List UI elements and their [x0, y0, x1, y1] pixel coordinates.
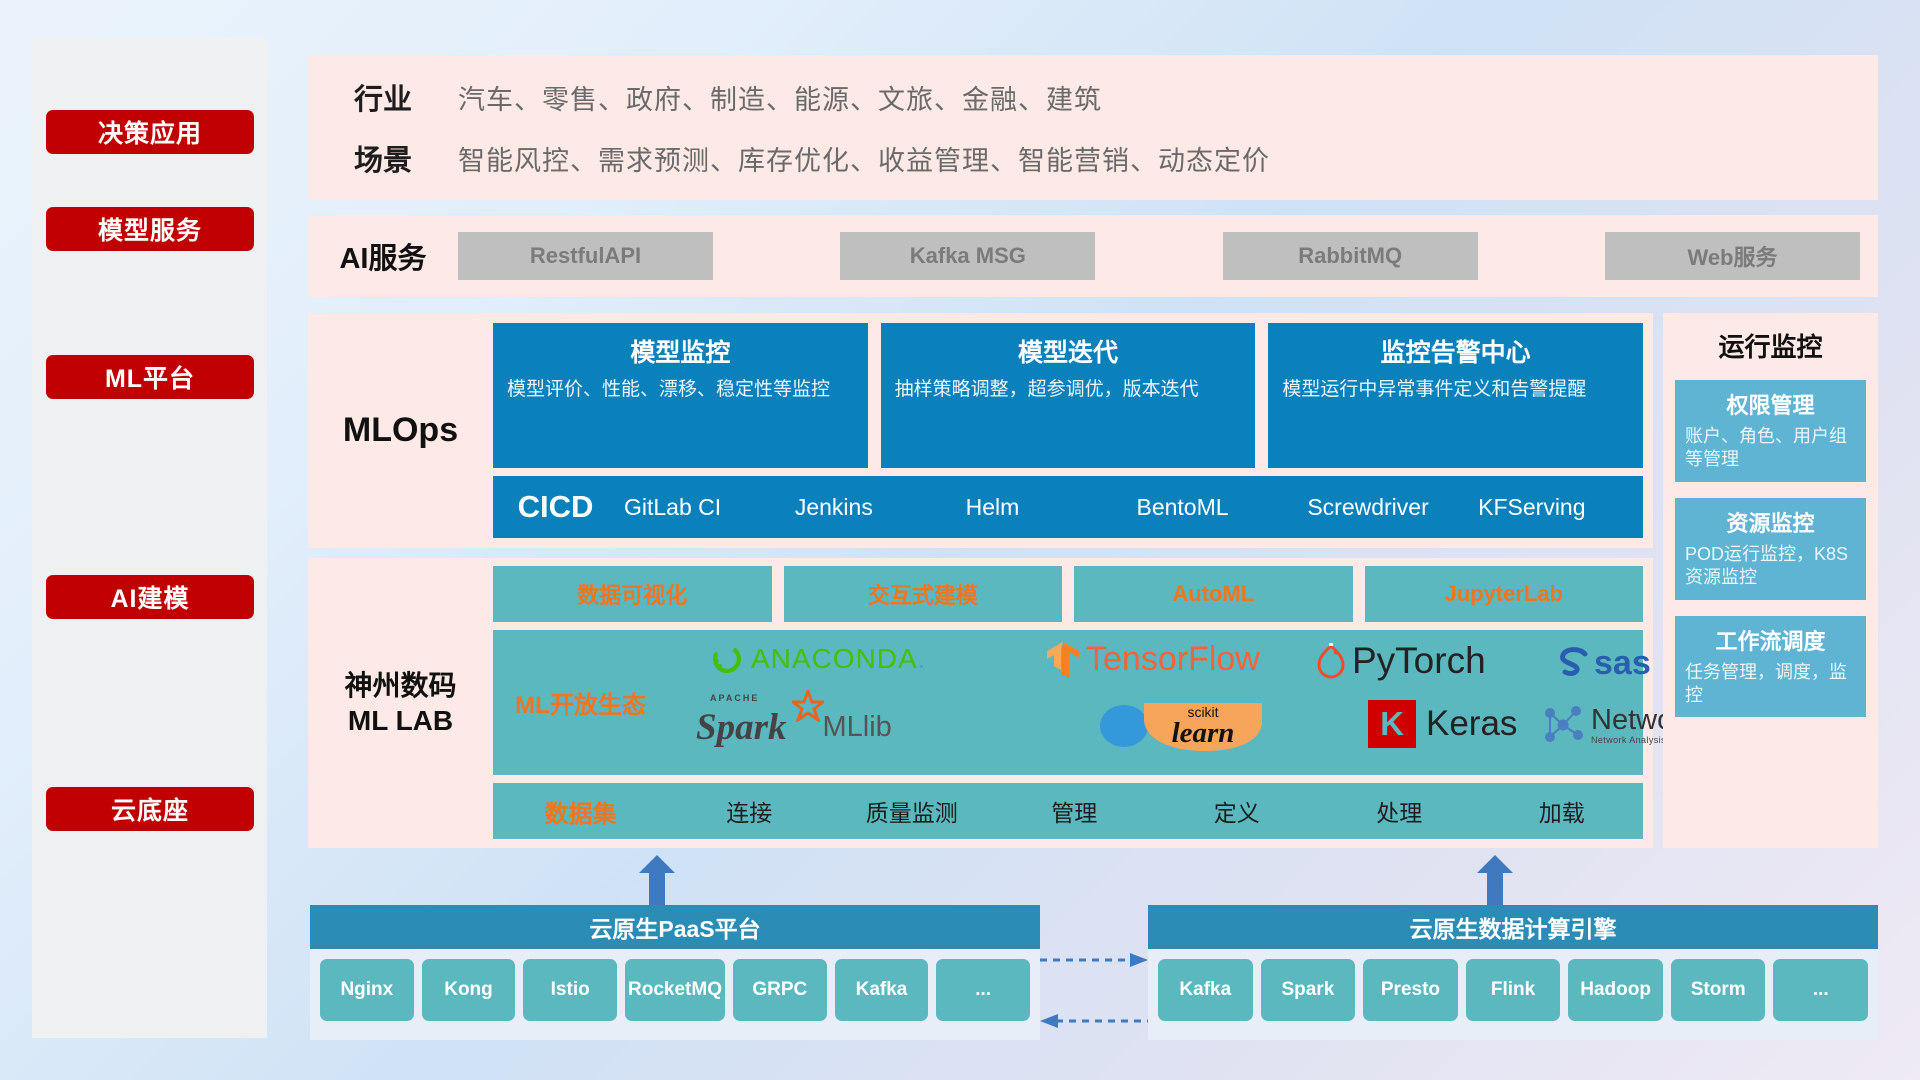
mllib-wordmark: MLlib: [822, 711, 891, 744]
rail-chip-ml-platform[interactable]: ML平台: [46, 355, 254, 399]
ecosystem-logo-grid: ANACONDA . APACHE Spark MLlib: [668, 630, 1643, 775]
cloud-chip-istio[interactable]: Istio: [523, 959, 617, 1021]
runtime-monitoring-title: 运行监控: [1663, 313, 1878, 364]
rail-chip-model-service[interactable]: 模型服务: [46, 207, 254, 251]
dataset-action-list: 连接 质量监测 管理 定义 处理 加载: [668, 794, 1643, 828]
dataset-action-manage[interactable]: 管理: [993, 794, 1156, 828]
rail-chip-label: ML平台: [105, 359, 195, 395]
dataset-action-quality[interactable]: 质量监测: [831, 794, 994, 828]
dataset-action-connect[interactable]: 连接: [668, 794, 831, 828]
scikit-wordmark-bottom: learn: [1142, 720, 1264, 748]
cicd-tool-screwdriver[interactable]: Screwdriver: [1301, 495, 1472, 519]
dashed-arrow-right-icon: [1040, 952, 1148, 968]
up-arrow-data-engine-icon: [1475, 855, 1515, 905]
keras-mark-icon: K: [1368, 700, 1416, 748]
tab-data-visualization[interactable]: 数据可视化: [493, 566, 772, 622]
cloud-chip-kong[interactable]: Kong: [422, 959, 516, 1021]
card-title: 模型监控: [507, 333, 854, 369]
rail-chip-label: 云底座: [111, 791, 189, 827]
rail-chip-label: 决策应用: [98, 114, 202, 150]
cloud-chip-rocketmq[interactable]: RocketMQ: [625, 959, 725, 1021]
scenario-label: 场景: [308, 137, 458, 179]
anaconda-dot: .: [918, 643, 926, 675]
keras-wordmark: Keras: [1426, 704, 1517, 744]
ai-service-chip-rabbitmq[interactable]: RabbitMQ: [1223, 232, 1478, 280]
ai-service-chip-web[interactable]: Web服务: [1605, 232, 1860, 280]
cloud-chip-nginx[interactable]: Nginx: [320, 959, 414, 1021]
rail-chip-label: 模型服务: [98, 211, 202, 247]
anaconda-mark-icon: [710, 642, 744, 676]
card-desc: 模型运行中异常事件定义和告警提醒: [1282, 377, 1629, 403]
cloud-paas-group: 云原生PaaS平台 Nginx Kong Istio RocketMQ GRPC…: [310, 905, 1040, 1040]
dataset-label: 数据集: [493, 794, 668, 829]
rail-chip-ai-modeling[interactable]: AI建模: [46, 575, 254, 619]
cicd-label: CICD: [493, 489, 618, 525]
ml-lab-label-line2: ML LAB: [348, 703, 453, 738]
tensorflow-wordmark: TensorFlow: [1086, 640, 1260, 679]
monitor-card-permission[interactable]: 权限管理 账户、角色、用户组等管理: [1675, 380, 1866, 482]
apache-wordmark: APACHE: [710, 693, 759, 703]
ml-lab-label: 神州数码 ML LAB: [308, 558, 493, 848]
cicd-strip: CICD GitLab CI Jenkins Helm BentoML Scre…: [493, 476, 1643, 538]
sas-wordmark: sas: [1594, 644, 1651, 683]
card-title: 监控告警中心: [1282, 333, 1629, 369]
dataset-action-load[interactable]: 加载: [1481, 794, 1644, 828]
monitor-card-resource[interactable]: 资源监控 POD运行监控，K8S资源监控: [1675, 498, 1866, 600]
monitor-card-workflow[interactable]: 工作流调度 任务管理，调度，监控: [1675, 616, 1866, 718]
industry-row: 行业 汽车、零售、政府、制造、能源、文旅、金融、建筑: [308, 55, 1878, 127]
cloud-paas-title: 云原生PaaS平台: [310, 905, 1040, 949]
rail-chip-decision[interactable]: 决策应用: [46, 110, 254, 154]
mlops-band: MLOps 模型监控 模型评价、性能、漂移、稳定性等监控 模型迭代 抽样策略调整…: [308, 313, 1653, 548]
spark-mllib-logo: APACHE Spark MLlib: [696, 706, 892, 749]
ai-service-label: AI服务: [308, 235, 458, 277]
mlops-card-model-monitoring[interactable]: 模型监控 模型评价、性能、漂移、稳定性等监控: [493, 323, 868, 468]
cloud-paas-chip-list: Nginx Kong Istio RocketMQ GRPC Kafka ...: [310, 949, 1040, 1021]
cloud-data-engine-group: 云原生数据计算引擎 Kafka Spark Presto Flink Hadoo…: [1148, 905, 1878, 1040]
pytorch-flame-icon: [1316, 643, 1346, 679]
card-desc: POD运行监控，K8S资源监控: [1685, 543, 1856, 590]
runtime-monitoring-panel: 运行监控 权限管理 账户、角色、用户组等管理 资源监控 POD运行监控，K8S资…: [1663, 313, 1878, 848]
keras-logo: K Keras: [1368, 700, 1517, 748]
pytorch-wordmark: PyTorch: [1352, 640, 1486, 682]
card-desc: 任务管理，调度，监控: [1685, 661, 1856, 708]
rail-chip-cloud-base[interactable]: 云底座: [46, 787, 254, 831]
mlops-card-alert-center[interactable]: 监控告警中心 模型运行中异常事件定义和告警提醒: [1268, 323, 1643, 468]
dashed-arrow-left-icon: [1040, 1013, 1148, 1029]
anaconda-wordmark: ANACONDA: [751, 643, 918, 675]
scikit-learn-logo: scikit learn: [1098, 702, 1264, 750]
dataset-action-define[interactable]: 定义: [1156, 794, 1319, 828]
cicd-tool-list: GitLab CI Jenkins Helm BentoML Screwdriv…: [618, 495, 1643, 519]
card-desc: 模型评价、性能、漂移、稳定性等监控: [507, 377, 854, 403]
ml-lab-label-line1: 神州数码: [344, 668, 456, 703]
cicd-tool-gitlab-ci[interactable]: GitLab CI: [618, 495, 789, 519]
tab-jupyterlab[interactable]: JupyterLab: [1365, 566, 1644, 622]
cloud-chip-flink[interactable]: Flink: [1466, 959, 1561, 1021]
mlops-card-list: 模型监控 模型评价、性能、漂移、稳定性等监控 模型迭代 抽样策略调整，超参调优，…: [493, 323, 1643, 468]
cicd-tool-jenkins[interactable]: Jenkins: [789, 495, 960, 519]
up-arrow-paas-icon: [637, 855, 677, 905]
tensorflow-logo: TensorFlow: [1046, 640, 1260, 679]
industry-label: 行业: [308, 76, 458, 118]
ml-open-ecosystem-label: ML开放生态: [493, 685, 668, 720]
card-title: 权限管理: [1685, 388, 1856, 420]
rail-chip-label: AI建模: [110, 579, 189, 615]
mlops-label: MLOps: [308, 313, 493, 548]
pytorch-logo: PyTorch: [1316, 640, 1486, 682]
ml-lab-tab-list: 数据可视化 交互式建模 AutoML JupyterLab: [493, 566, 1643, 622]
cloud-chip-presto[interactable]: Presto: [1363, 959, 1458, 1021]
cloud-data-engine-title: 云原生数据计算引擎: [1148, 905, 1878, 949]
card-title: 模型迭代: [895, 333, 1242, 369]
ml-open-ecosystem-panel: ML开放生态 ANACONDA . APACHE Spark: [493, 630, 1643, 775]
cloud-chip-grpc[interactable]: GRPC: [733, 959, 827, 1021]
anaconda-logo: ANACONDA .: [710, 642, 925, 676]
ai-service-chip-list: RestfulAPI Kafka MSG RabbitMQ Web服务: [458, 232, 1878, 280]
ai-service-chip-restfulapi[interactable]: RestfulAPI: [458, 232, 713, 280]
card-desc: 抽样策略调整，超参调优，版本迭代: [895, 377, 1242, 403]
cicd-tool-kfserving[interactable]: KFServing: [1472, 495, 1643, 519]
cicd-tool-bentoml[interactable]: BentoML: [1130, 495, 1301, 519]
ml-lab-band: 神州数码 ML LAB 数据可视化 交互式建模 AutoML JupyterLa…: [308, 558, 1653, 848]
industry-value: 汽车、零售、政府、制造、能源、文旅、金融、建筑: [458, 78, 1102, 117]
scenario-row: 场景 智能风控、需求预测、库存优化、收益管理、智能营销、动态定价: [308, 127, 1878, 189]
cloud-chip-storm[interactable]: Storm: [1671, 959, 1766, 1021]
cicd-tool-helm[interactable]: Helm: [960, 495, 1131, 519]
card-title: 资源监控: [1685, 506, 1856, 538]
spark-star-icon: [792, 690, 824, 722]
mlops-card-model-iteration[interactable]: 模型迭代 抽样策略调整，超参调优，版本迭代: [881, 323, 1256, 468]
cloud-chip-kafka[interactable]: Kafka: [1158, 959, 1253, 1021]
stack-layer-rail: 决策应用 模型服务 ML平台 AI建模 云底座: [32, 38, 267, 1038]
ai-service-chip-kafka-msg[interactable]: Kafka MSG: [840, 232, 1095, 280]
tab-interactive-modeling[interactable]: 交互式建模: [784, 566, 1063, 622]
cloud-chip-spark[interactable]: Spark: [1261, 959, 1356, 1021]
cloud-chip-more[interactable]: ...: [1773, 959, 1868, 1021]
spark-wordmark: Spark: [696, 707, 786, 748]
cloud-chip-kafka[interactable]: Kafka: [835, 959, 929, 1021]
card-desc: 账户、角色、用户组等管理: [1685, 425, 1856, 472]
card-title: 工作流调度: [1685, 624, 1856, 656]
ai-service-band: AI服务 RestfulAPI Kafka MSG RabbitMQ Web服务: [308, 215, 1878, 297]
tensorflow-mark-icon: [1046, 641, 1080, 679]
sas-logo: sas: [1556, 644, 1651, 683]
networkx-graph-icon: [1540, 704, 1586, 746]
decision-application-band: 行业 汽车、零售、政府、制造、能源、文旅、金融、建筑 场景 智能风控、需求预测、…: [308, 55, 1878, 200]
dataset-strip: 数据集 连接 质量监测 管理 定义 处理 加载: [493, 783, 1643, 839]
sas-swirl-icon: [1556, 647, 1592, 681]
cloud-data-engine-chip-list: Kafka Spark Presto Flink Hadoop Storm ..…: [1148, 949, 1878, 1021]
cloud-chip-more[interactable]: ...: [936, 959, 1030, 1021]
scenario-value: 智能风控、需求预测、库存优化、收益管理、智能营销、动态定价: [458, 139, 1270, 178]
dataset-action-process[interactable]: 处理: [1318, 794, 1481, 828]
cloud-chip-hadoop[interactable]: Hadoop: [1568, 959, 1663, 1021]
tab-automl[interactable]: AutoML: [1074, 566, 1353, 622]
